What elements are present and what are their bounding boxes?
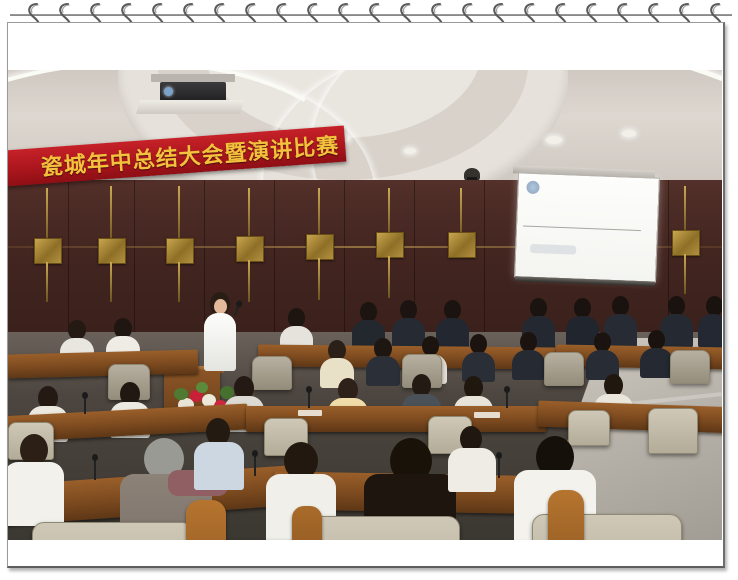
desk-microphone-icon bbox=[254, 454, 256, 476]
notebook-page: 瓷城年中总结大会暨演讲比赛 bbox=[0, 0, 738, 580]
desk-microphone-icon bbox=[308, 390, 310, 408]
wall-ornament bbox=[166, 238, 194, 264]
projector-ceiling-plate bbox=[136, 100, 244, 114]
conference-chair bbox=[544, 352, 584, 386]
downlight-icon bbox=[622, 130, 636, 137]
screen-divider-line bbox=[523, 226, 641, 232]
screen-content-blur bbox=[530, 244, 576, 255]
wall-ornament bbox=[672, 230, 700, 256]
downlight-icon bbox=[546, 136, 562, 144]
conference-desk bbox=[8, 350, 198, 379]
foreground-chair bbox=[32, 522, 194, 540]
speaker-body bbox=[204, 313, 236, 371]
projector-lens-icon bbox=[164, 87, 173, 96]
desk-microphone-icon bbox=[498, 456, 500, 478]
conference-chair bbox=[670, 350, 710, 384]
projector-mount bbox=[151, 74, 235, 82]
chair-armrest bbox=[186, 500, 226, 540]
wall-ornament bbox=[98, 238, 126, 264]
projection-screen bbox=[514, 172, 660, 282]
conference-chair bbox=[568, 410, 610, 446]
chair-armrest bbox=[548, 490, 584, 540]
wall-ornament bbox=[34, 238, 62, 264]
conference-photo: 瓷城年中总结大会暨演讲比赛 bbox=[8, 70, 722, 540]
screen-logo-icon bbox=[526, 181, 539, 194]
wall-ornament bbox=[448, 232, 476, 258]
desk-microphone-icon bbox=[94, 458, 96, 480]
wall-ornament bbox=[236, 236, 264, 262]
conference-chair bbox=[648, 408, 698, 454]
downlight-icon bbox=[404, 148, 416, 154]
conference-chair bbox=[252, 356, 292, 390]
wall-ornament bbox=[306, 234, 334, 260]
speaker-face bbox=[214, 299, 227, 314]
chair-armrest bbox=[292, 506, 322, 540]
photo-caption-margin bbox=[8, 540, 722, 562]
foreground-chair bbox=[308, 516, 460, 540]
desk-microphone-icon bbox=[84, 396, 86, 414]
wall-ornament bbox=[376, 232, 404, 258]
desk-microphone-icon bbox=[506, 390, 508, 408]
